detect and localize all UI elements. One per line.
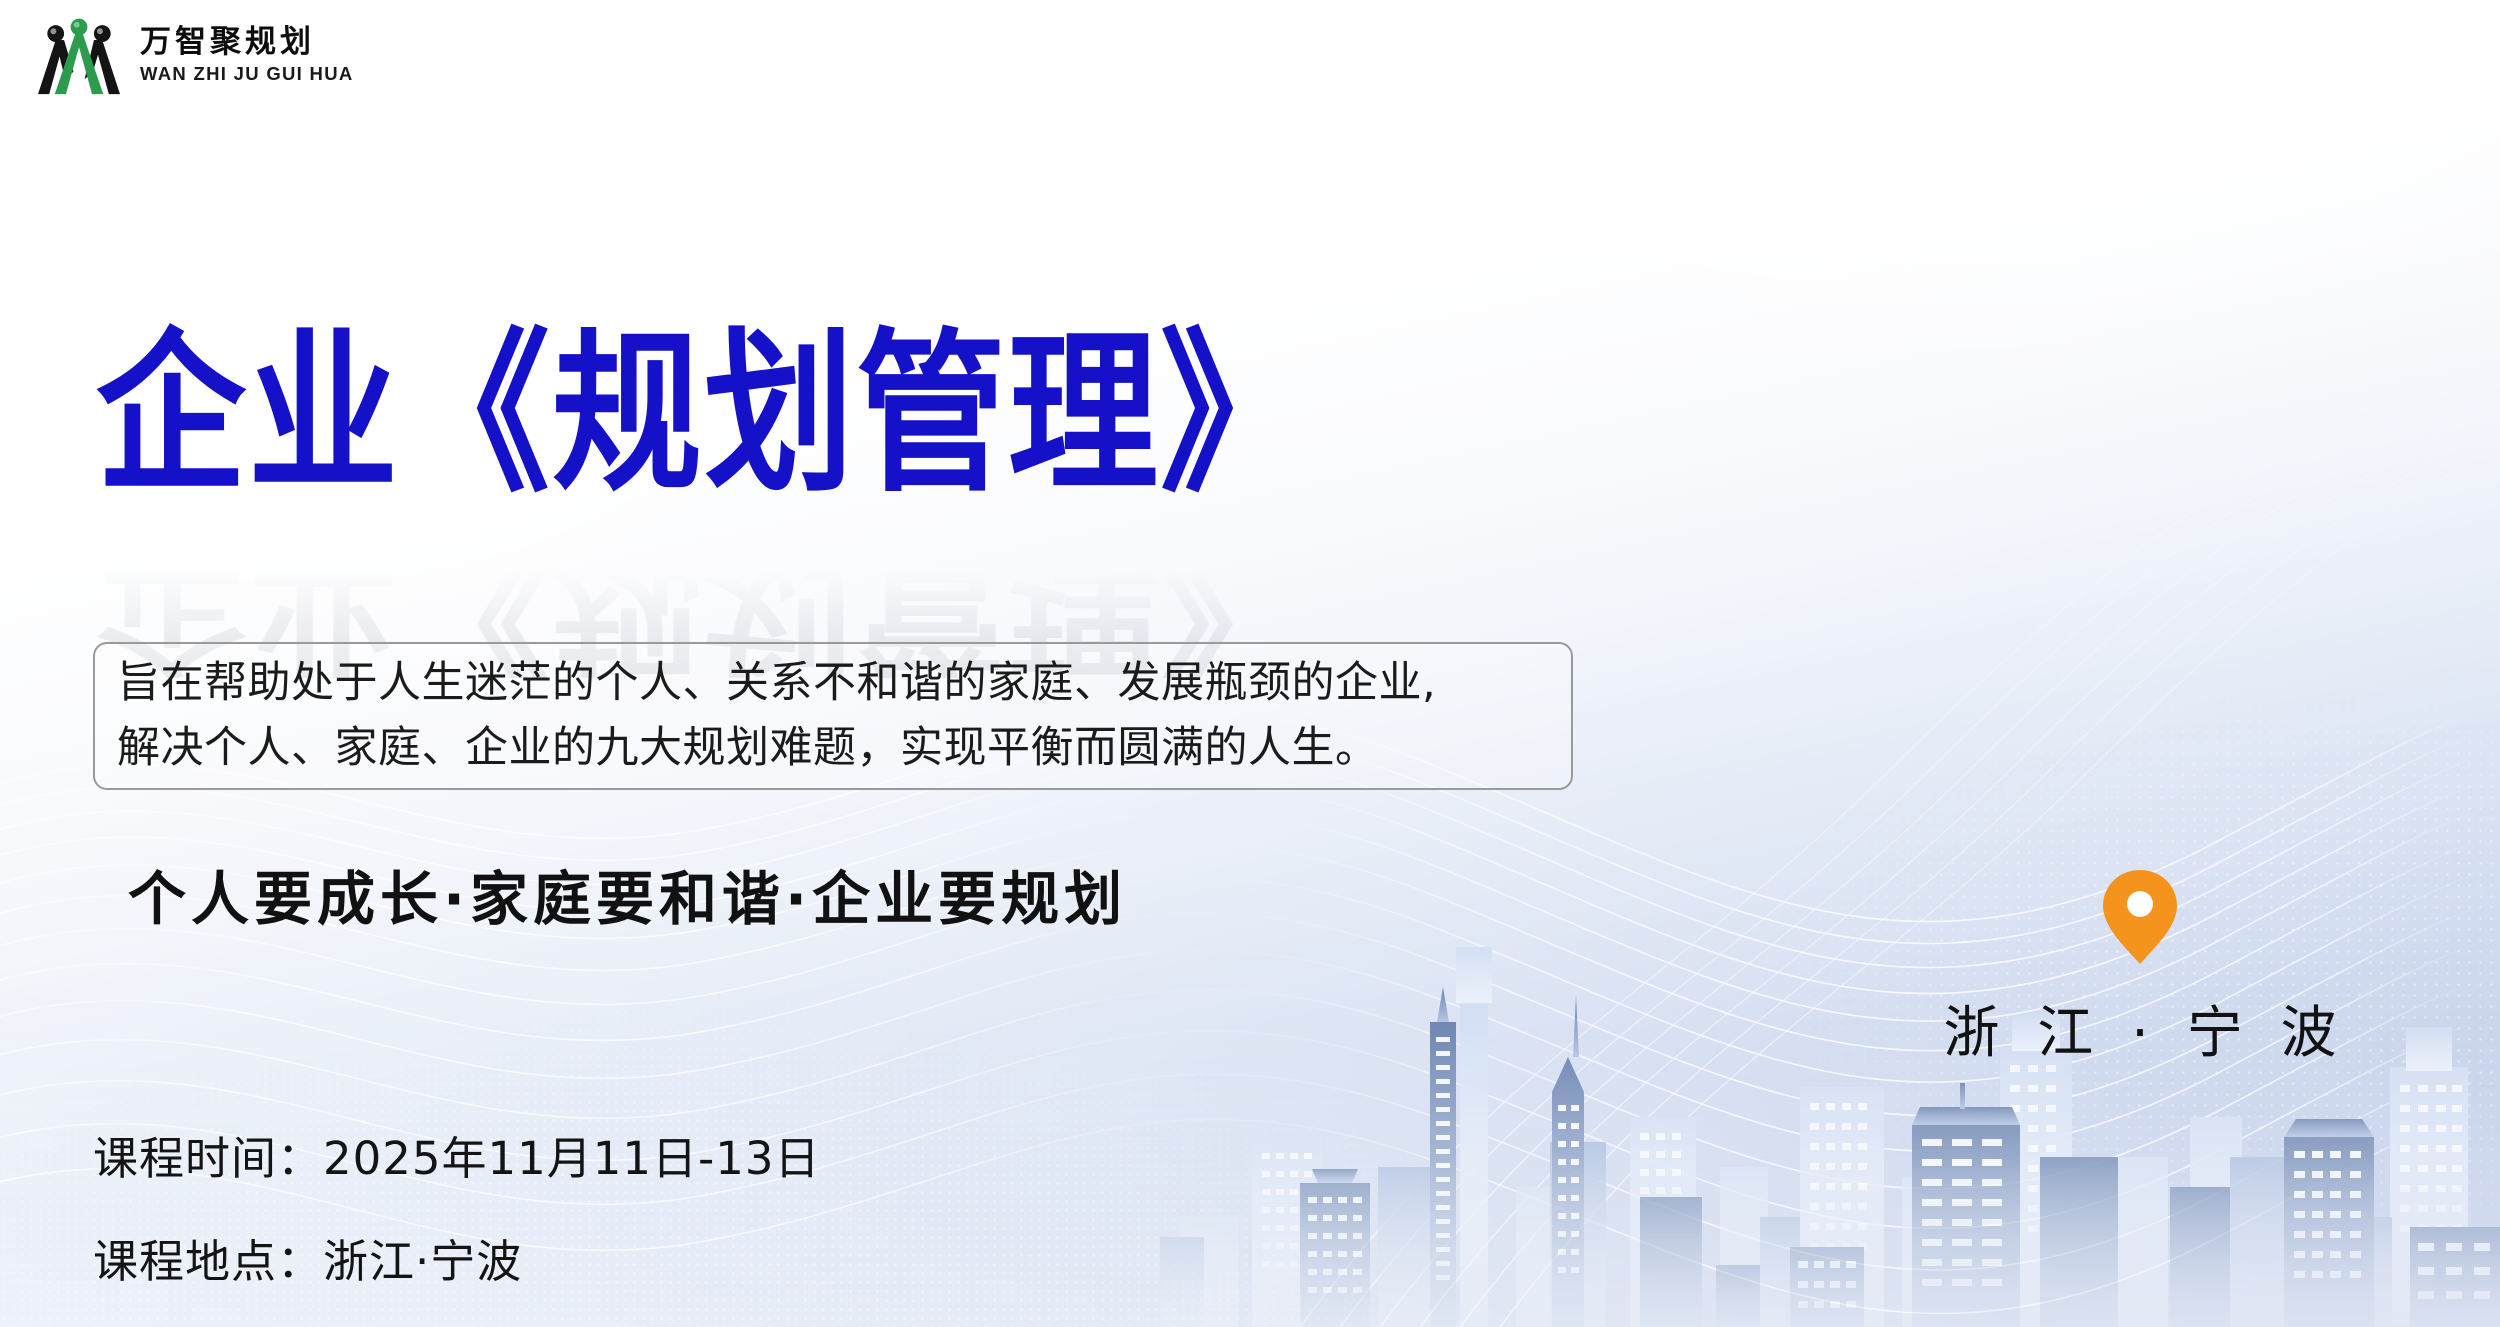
description-line-2: 解决个人、家庭、企业的九大规划难题，实现平衡而圆满的人生。 [117, 716, 1553, 781]
description-line-1: 旨在帮助处于人生迷茫的个人、关系不和谐的家庭、发展瓶颈的企业, [117, 651, 1553, 716]
poster-canvas: 万智聚规划 WAN ZHI JU GUI HUA 企业《规划管理》 企业《规划管… [0, 0, 2500, 1327]
brand-name-cn: 万智聚规划 [140, 25, 354, 59]
location-label: 浙 江 · 宁 波 [1934, 988, 2347, 1069]
brand-logo[interactable]: 万智聚规划 WAN ZHI JU GUI HUA [32, 14, 354, 96]
brand-name-en: WAN ZHI JU GUI HUA [140, 63, 354, 85]
page-title: 企业《规划管理》 [96, 328, 1656, 502]
hero-title-block: 企业《规划管理》 企业《规划管理》 [96, 328, 1656, 478]
course-place: 课程地点：浙江·宁波 [93, 1225, 821, 1290]
course-info: 课程时间：2025年11月11日-13日 课程地点：浙江·宁波 [93, 1122, 821, 1290]
course-time: 课程时间：2025年11月11日-13日 [93, 1122, 821, 1187]
location-block: 浙 江 · 宁 波 [1950, 868, 2330, 1069]
tagline: 个人要成长·家庭要和谐·企业要规划 [128, 852, 1127, 936]
three-people-m-logo-icon [32, 14, 126, 96]
description-box: 旨在帮助处于人生迷茫的个人、关系不和谐的家庭、发展瓶颈的企业, 解决个人、家庭、… [93, 642, 1573, 790]
map-pin-icon [2098, 868, 2182, 966]
